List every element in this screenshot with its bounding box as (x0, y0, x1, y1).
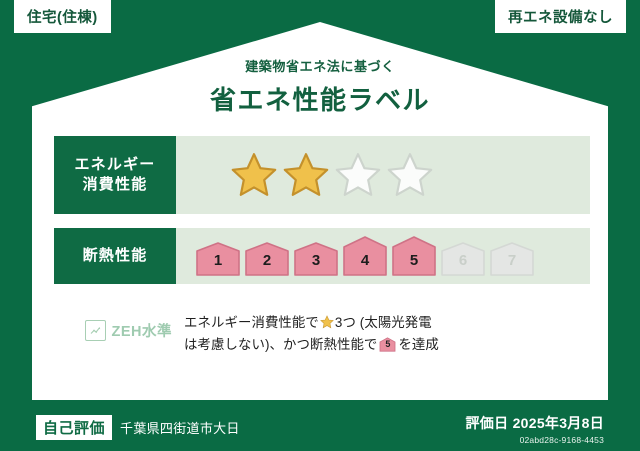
evaluation-id: 02abd28c-9168-4453 (465, 435, 604, 445)
star-icon-empty (334, 151, 382, 199)
house-badge-icon-value: 5 (379, 337, 396, 352)
badge-building-type-label: 住宅(住棟) (27, 6, 98, 27)
house-grade-value: 7 (490, 252, 534, 269)
star-icon-empty (386, 151, 434, 199)
zeh-description-line2: は考慮しない)、かつ断熱性能で5を達成 (184, 334, 590, 356)
house-grade-value: 6 (441, 252, 485, 269)
zeh-desc-line1-after: 3つ (太陽光発電 (335, 315, 432, 330)
zeh-desc-line2-after: を達成 (398, 337, 438, 352)
energy-consumption-label: エネルギー 消費性能 (54, 136, 176, 214)
energy-consumption-value (176, 136, 590, 214)
energy-consumption-row: エネルギー 消費性能 (54, 136, 590, 214)
property-address: 千葉県四街道市大日 (120, 418, 240, 437)
house-grade-2: 2 (245, 242, 289, 276)
evaluation-date-value: 2025年3月8日 (513, 415, 604, 431)
house-grade-1: 1 (196, 242, 240, 276)
zeh-standard-block: ZEH水準 エネルギー消費性能で3つ (太陽光発電 は考慮しない)、かつ断熱性能… (54, 312, 590, 355)
footer-right: 評価日 2025年3月8日 02abd28c-9168-4453 (465, 413, 604, 445)
house-grade-6: 6 (441, 242, 485, 276)
house-grade-scale: 1234567 (176, 236, 534, 276)
energy-consumption-label-line2: 消費性能 (83, 175, 148, 195)
house-grade-value: 4 (343, 252, 387, 269)
badge-renewable-equipment-label: 再エネ設備なし (508, 6, 613, 27)
insulation-performance-label: 断熱性能 (54, 228, 176, 284)
energy-performance-label: 住宅(住棟) 再エネ設備なし 建築物省エネ法に基づく 省エネ性能ラベル エネルギ… (0, 0, 640, 451)
house-grade-value: 5 (392, 252, 436, 269)
house-grade-value: 2 (245, 252, 289, 269)
star-icon-filled (230, 151, 278, 199)
zeh-desc-line1-before: エネルギー消費性能で (184, 315, 319, 330)
zeh-desc-line2-before: は考慮しない)、かつ断熱性能で (184, 337, 377, 352)
badge-renewable-equipment: 再エネ設備なし (495, 0, 626, 33)
chart-icon (85, 320, 106, 341)
label-subtitle: 建築物省エネ法に基づく (0, 56, 640, 75)
insulation-performance-label-text: 断熱性能 (83, 246, 148, 266)
evaluation-type-badge: 自己評価 (36, 415, 112, 440)
insulation-performance-row: 断熱性能 1234567 (54, 228, 590, 284)
star-icon (320, 314, 334, 328)
star-icon-filled (282, 151, 330, 199)
star-rating (176, 151, 434, 199)
footer-left: 自己評価 千葉県四街道市大日 (36, 415, 240, 440)
house-badge-icon: 5 (379, 337, 396, 352)
zeh-mark-label: ZEH水準 (112, 320, 173, 341)
zeh-description-line1: エネルギー消費性能で3つ (太陽光発電 (184, 312, 590, 334)
badge-building-type: 住宅(住棟) (14, 0, 111, 33)
energy-consumption-label-line1: エネルギー (74, 155, 155, 175)
label-title-block: 建築物省エネ法に基づく 省エネ性能ラベル (0, 56, 640, 117)
zeh-description: エネルギー消費性能で3つ (太陽光発電 は考慮しない)、かつ断熱性能で5を達成 (172, 312, 590, 355)
house-grade-value: 3 (294, 252, 338, 269)
house-grade-3: 3 (294, 242, 338, 276)
house-grade-5: 5 (392, 236, 436, 276)
label-footer: 自己評価 千葉県四街道市大日 評価日 2025年3月8日 02abd28c-91… (0, 403, 640, 451)
page-title: 省エネ性能ラベル (0, 80, 640, 117)
evaluation-date-label: 評価日 (465, 415, 508, 431)
house-grade-7: 7 (490, 242, 534, 276)
house-grade-value: 1 (196, 252, 240, 269)
insulation-performance-value: 1234567 (176, 228, 590, 284)
zeh-mark: ZEH水準 (54, 312, 172, 341)
evaluation-date: 評価日 2025年3月8日 (465, 413, 604, 433)
house-grade-4: 4 (343, 236, 387, 276)
